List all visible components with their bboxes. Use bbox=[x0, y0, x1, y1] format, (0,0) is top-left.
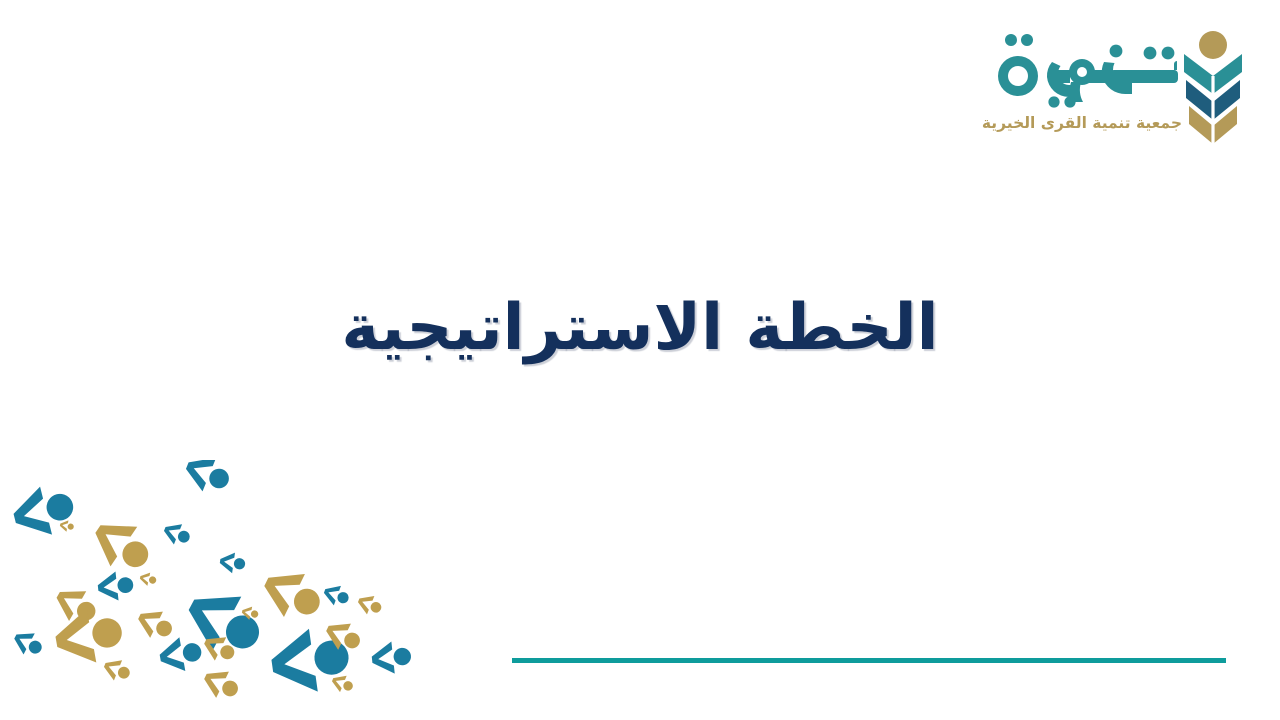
page-title: الخطة الاستراتيجية bbox=[0, 288, 1280, 368]
wheat-plant-mark-icon bbox=[1182, 28, 1244, 144]
decorative-chevron-pattern bbox=[0, 460, 470, 720]
title-slide: جمعية تنمية القرى الخيرية الخطة الاسترات… bbox=[0, 0, 1280, 720]
logo-wordmark-tanmia bbox=[992, 26, 1178, 110]
footer-divider bbox=[512, 658, 1226, 663]
logo-tagline: جمعية تنمية القرى الخيرية bbox=[990, 114, 1182, 132]
organization-logo: جمعية تنمية القرى الخيرية bbox=[986, 18, 1244, 146]
